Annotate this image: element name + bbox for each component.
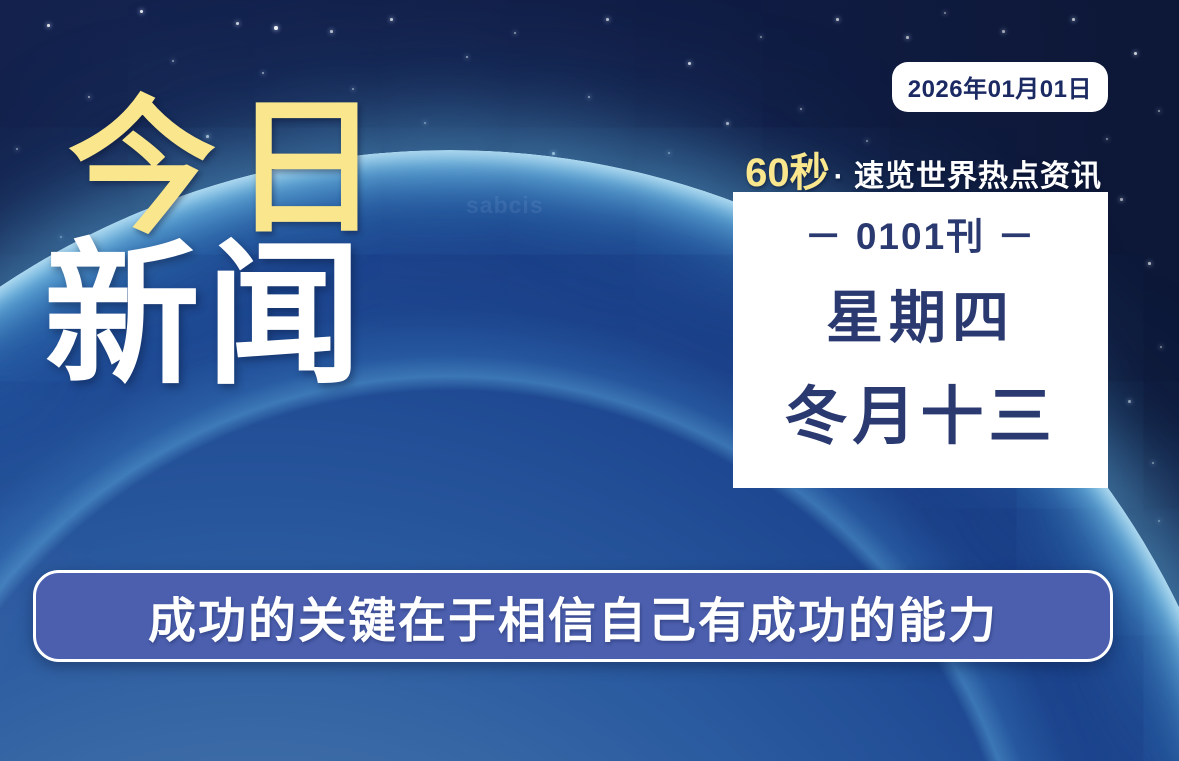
star — [390, 18, 393, 21]
tagline: 60秒 · 速览世界热点资讯 — [745, 140, 1102, 198]
star — [760, 36, 762, 38]
star — [1072, 18, 1075, 21]
star — [1160, 346, 1162, 348]
lunar-date-label: 冬月十三 — [785, 366, 1057, 457]
news-poster: sabcis 今日 新闻 2026年01月01日 60秒 · 速览世界热点资讯 … — [0, 0, 1179, 761]
star — [1134, 52, 1137, 55]
star — [606, 18, 609, 21]
star — [140, 10, 143, 13]
star — [1148, 262, 1151, 265]
star — [588, 96, 590, 98]
star — [466, 56, 468, 58]
star — [172, 60, 174, 62]
star — [726, 122, 729, 125]
star — [274, 26, 278, 30]
star — [236, 22, 239, 25]
star — [1002, 30, 1005, 33]
star — [800, 108, 802, 110]
info-card: － 0101刊 － 星期四 冬月十三 — [733, 192, 1108, 488]
star — [906, 36, 909, 39]
star — [1158, 520, 1160, 522]
star — [1128, 400, 1131, 403]
star — [1152, 462, 1154, 464]
date-badge: 2026年01月01日 — [892, 62, 1108, 112]
star — [836, 18, 839, 21]
star — [16, 148, 18, 150]
tagline-rest: · 速览世界热点资讯 — [834, 151, 1102, 195]
star — [47, 24, 50, 27]
star — [552, 152, 555, 155]
headline-block: 今日 新闻 — [68, 96, 396, 396]
weekday-label: 星期四 — [826, 272, 1015, 354]
star — [1120, 198, 1123, 201]
star — [330, 30, 333, 33]
star — [688, 62, 691, 65]
tagline-seconds: 60秒 — [745, 140, 830, 198]
star — [668, 152, 670, 154]
headline-today: 今日 — [68, 96, 396, 241]
quote-text: 成功的关键在于相信自己有成功的能力 — [148, 581, 998, 651]
star — [424, 122, 426, 124]
star — [514, 32, 516, 34]
star — [262, 72, 264, 74]
quote-banner: 成功的关键在于相信自己有成功的能力 — [33, 570, 1113, 662]
issue-number: － 0101刊 － — [805, 206, 1037, 260]
headline-news: 新闻 — [44, 237, 396, 396]
star — [944, 12, 946, 14]
star — [1158, 110, 1160, 112]
star — [1106, 138, 1108, 140]
